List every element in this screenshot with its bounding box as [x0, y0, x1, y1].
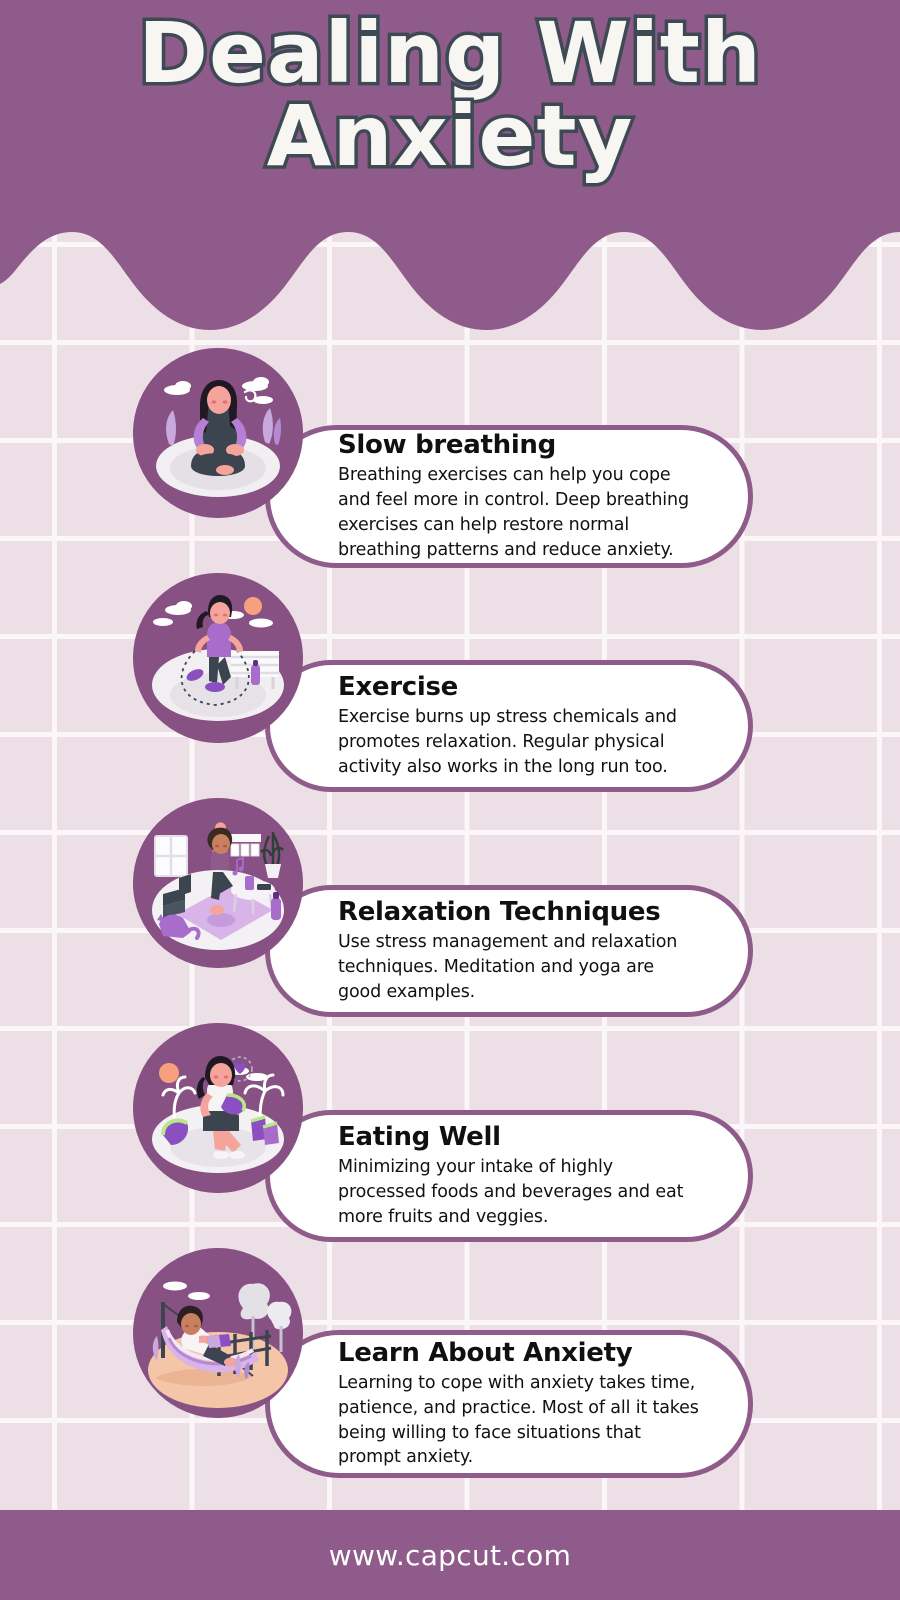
- card-body: Minimizing your intake of highly process…: [338, 1155, 708, 1230]
- card-learn-about-anxiety[interactable]: Learn About Anxiety Learning to cope wit…: [265, 1330, 753, 1478]
- card-title: Exercise: [338, 672, 708, 702]
- reading-hammock-illustration-icon: [133, 1248, 303, 1418]
- card-title: Eating Well: [338, 1122, 708, 1152]
- card-slow-breathing[interactable]: Slow breathing Breathing exercises can h…: [265, 425, 753, 568]
- card-relaxation-techniques[interactable]: Relaxation Techniques Use stress managem…: [265, 885, 753, 1017]
- eating-watermelon-illustration-icon: [133, 1023, 303, 1193]
- meditation-illustration-icon: [133, 348, 303, 518]
- yoga-pose-illustration-icon: [133, 798, 303, 968]
- card-body: Learning to cope with anxiety takes time…: [338, 1371, 708, 1470]
- card-eating-well[interactable]: Eating Well Minimizing your intake of hi…: [265, 1110, 753, 1242]
- card-body: Use stress management and relaxation tec…: [338, 930, 708, 1005]
- card-title: Learn About Anxiety: [338, 1338, 708, 1368]
- footer-bar: www.capcut.com: [0, 1510, 900, 1600]
- card-title: Relaxation Techniques: [338, 897, 708, 927]
- card-body: Breathing exercises can help you cope an…: [338, 463, 708, 562]
- page-title: Dealing With Anxiety: [0, 12, 900, 178]
- jump-rope-illustration-icon: [133, 573, 303, 743]
- footer-url[interactable]: www.capcut.com: [329, 1539, 571, 1572]
- header-banner: Dealing With Anxiety: [0, 0, 900, 330]
- card-exercise[interactable]: Exercise Exercise burns up stress chemic…: [265, 660, 753, 792]
- infographic-poster: Dealing With Anxiety Slow breathing Brea…: [0, 0, 900, 1600]
- card-body: Exercise burns up stress chemicals and p…: [338, 705, 708, 780]
- card-title: Slow breathing: [338, 430, 708, 460]
